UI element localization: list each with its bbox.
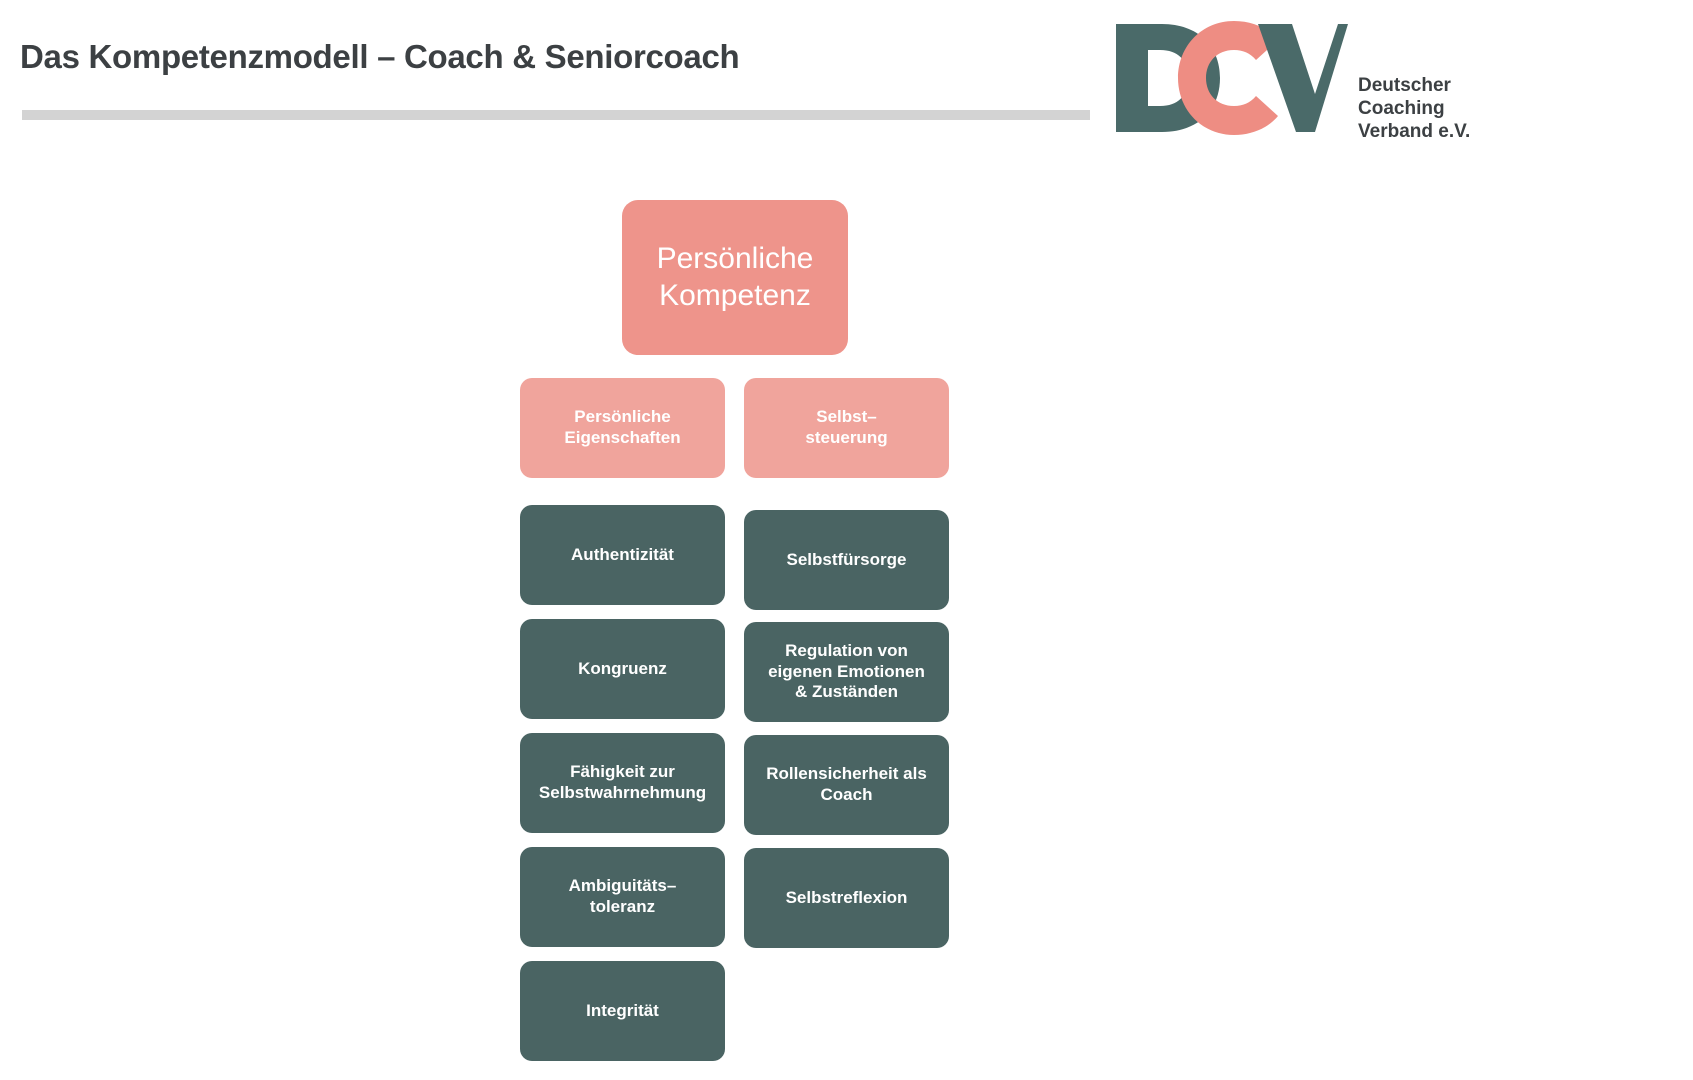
page-title: Das Kompetenzmodell – Coach & Seniorcoac… xyxy=(20,38,739,76)
node-leaf-selbstreflexion: Selbstreflexion xyxy=(744,848,949,948)
logo-line-3: Verband e.V. xyxy=(1358,120,1470,143)
page-header: Das Kompetenzmodell – Coach & Seniorcoac… xyxy=(0,0,1693,150)
node-leaf-kongruenz: Kongruenz xyxy=(520,619,725,719)
category-1-line-2: Eigenschaften xyxy=(564,428,680,449)
title-divider xyxy=(22,110,1090,120)
node-leaf-integritaet: Integrität xyxy=(520,961,725,1061)
node-leaf-selbstfuersorge: Selbstfürsorge xyxy=(744,510,949,610)
c2-item-2-line-1: Rollensicherheit als xyxy=(766,764,927,785)
c2-item-3-line-1: Selbstreflexion xyxy=(786,888,908,909)
competence-model-diagram: Persönliche Kompetenz Persönliche Eigens… xyxy=(0,150,1693,1080)
category-2-line-2: steuerung xyxy=(805,428,887,449)
c1-item-1-line-1: Kongruenz xyxy=(578,659,667,680)
node-leaf-faehigkeit-zur-selbstwahrnehmung: Fähigkeit zur Selbstwahrnehmung xyxy=(520,733,725,833)
c1-item-3-line-1: Ambiguitäts– xyxy=(569,876,677,897)
node-leaf-rollensicherheit-als-coach: Rollensicherheit als Coach xyxy=(744,735,949,835)
c1-item-3-line-2: toleranz xyxy=(569,897,677,918)
dcv-logo: Deutscher Coaching Verband e.V. xyxy=(1110,18,1480,138)
node-root-line-1: Persönliche xyxy=(657,241,814,278)
c2-item-1-line-2: eigenen Emotionen xyxy=(768,662,925,683)
category-1-line-1: Persönliche xyxy=(564,407,680,428)
node-root-line-2: Kompetenz xyxy=(657,278,814,315)
node-category-persoenliche-eigenschaften: Persönliche Eigenschaften xyxy=(520,378,725,478)
c2-item-0-line-1: Selbstfürsorge xyxy=(787,550,907,571)
category-2-line-1: Selbst– xyxy=(805,407,887,428)
dcv-logo-mark-icon xyxy=(1110,18,1350,138)
c2-item-1-line-3: & Zuständen xyxy=(768,682,925,703)
c1-item-2-line-2: Selbstwahrnehmung xyxy=(539,783,706,804)
c2-item-2-line-2: Coach xyxy=(766,785,927,806)
node-category-selbststeuerung: Selbst– steuerung xyxy=(744,378,949,478)
node-leaf-regulation-von-eigenen-emotionen: Regulation von eigenen Emotionen & Zustä… xyxy=(744,622,949,722)
dcv-logo-text: Deutscher Coaching Verband e.V. xyxy=(1358,74,1470,143)
logo-line-2: Coaching xyxy=(1358,97,1470,120)
node-leaf-ambiguitaetstoleranz: Ambiguitäts– toleranz xyxy=(520,847,725,947)
logo-line-1: Deutscher xyxy=(1358,74,1470,97)
node-root-persoenliche-kompetenz: Persönliche Kompetenz xyxy=(622,200,848,355)
node-leaf-authentizitaet: Authentizität xyxy=(520,505,725,605)
c1-item-0-line-1: Authentizität xyxy=(571,545,674,566)
c2-item-1-line-1: Regulation von xyxy=(768,641,925,662)
c1-item-4-line-1: Integrität xyxy=(586,1001,659,1022)
c1-item-2-line-1: Fähigkeit zur xyxy=(539,762,706,783)
